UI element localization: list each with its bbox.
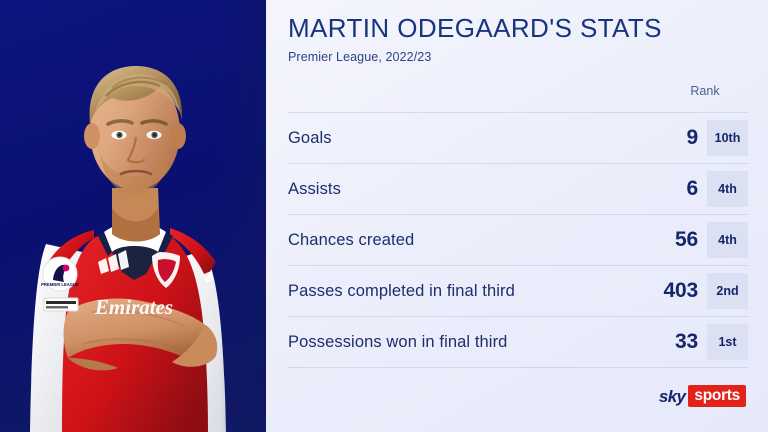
stat-value: 33 [646,330,698,354]
stat-rank-badge: 4th [707,222,748,258]
stat-label: Possessions won in final third [288,333,646,352]
stat-value: 9 [646,126,698,150]
table-row: Goals 9 10th [288,112,748,163]
stat-label: Goals [288,129,646,148]
stat-value: 6 [646,177,698,201]
stat-value: 56 [646,228,698,252]
page-title: MARTIN ODEGAARD'S STATS [288,14,748,43]
player-image-panel: PREMIER LEAGUE Emirates [0,0,266,432]
logo-sky-text: sky [659,388,686,405]
stats-graphic: PREMIER LEAGUE Emirates [0,0,768,432]
stat-rank-badge: 10th [707,120,748,156]
svg-text:Emirates: Emirates [94,295,173,319]
stat-rank-badge: 2nd [707,273,748,309]
table-row: Passes completed in final third 403 2nd [288,265,748,316]
stat-label: Passes completed in final third [288,282,646,301]
stat-label: Assists [288,180,646,199]
svg-text:PREMIER LEAGUE: PREMIER LEAGUE [41,282,79,287]
table-row: Assists 6 4th [288,163,748,214]
page-subtitle: Premier League, 2022/23 [288,50,748,64]
table-row: Possessions won in final third 33 1st [288,316,748,368]
stats-panel: MARTIN ODEGAARD'S STATS Premier League, … [266,0,768,432]
table-row: Chances created 56 4th [288,214,748,265]
rank-column-header: Rank [675,84,735,98]
stat-label: Chances created [288,231,646,250]
stats-table: Goals 9 10th Assists 6 4th Chances creat… [288,112,748,368]
stat-rank-badge: 1st [707,324,748,360]
sky-sports-logo: sky sports [659,386,746,406]
logo-sports-text: sports [688,385,746,408]
stat-value: 403 [646,279,698,303]
stat-rank-badge: 4th [707,171,748,207]
panel-header: MARTIN ODEGAARD'S STATS Premier League, … [288,14,748,64]
player-photo-martin-odegaard: PREMIER LEAGUE Emirates [8,12,266,432]
